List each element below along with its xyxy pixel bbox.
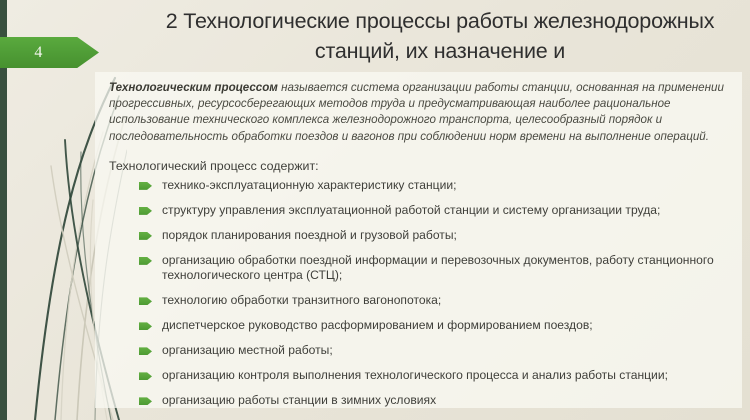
list-item: технологию обработки транзитного вагоноп… [139,293,728,309]
list-item: диспетчерское руководство расформировани… [139,318,728,334]
list-item-label: организацию контроля выполнения технолог… [162,368,668,382]
list-item-label: порядок планирования поездной и грузовой… [162,228,457,242]
definition-paragraph: Технологическим процессом называется сис… [109,80,728,145]
contents-list: технико-эксплуатационную характеристику … [105,178,732,409]
list-item-label: организацию работы станции в зимних усло… [162,393,436,407]
arrow-bullet-icon [139,297,152,305]
list-item-label: структуру управления эксплуатационной ра… [162,203,660,217]
list-subheading: Технологический процесс содержит: [109,158,728,175]
list-item: порядок планирования поездной и грузовой… [139,228,728,244]
arrow-bullet-icon [139,372,152,380]
arrow-bullet-icon [139,397,152,405]
list-item: технико-эксплуатационную характеристику … [139,178,728,194]
page-title: 2 Технологические процессы работы железн… [150,6,730,66]
list-item: организацию местной работы; [139,343,728,359]
list-item: организацию обработки поездной информаци… [139,253,728,284]
list-item-label: организацию обработки поездной информаци… [162,253,714,283]
arrow-bullet-icon [139,207,152,215]
list-item-label: диспетчерское руководство расформировани… [162,318,593,332]
definition-term: Технологическим процессом [109,81,281,94]
list-item: организацию работы станции в зимних усло… [139,393,728,409]
arrow-bullet-icon [139,182,152,190]
list-item-label: организацию местной работы; [162,343,333,357]
slide-canvas: 4 2 Технологические процессы работы желе… [0,0,750,420]
arrow-bullet-icon [139,347,152,355]
list-item: организацию контроля выполнения технолог… [139,368,728,384]
list-item: структуру управления эксплуатационной ра… [139,203,728,219]
slide-number-label: 4 [0,37,77,68]
arrow-bullet-icon [139,322,152,330]
arrow-bullet-icon [139,257,152,265]
list-item-label: технологию обработки транзитного вагоноп… [162,293,441,307]
arrow-bullet-icon [139,232,152,240]
list-item-label: технико-эксплуатационную характеристику … [162,178,456,192]
content-panel: Технологическим процессом называется сис… [95,72,742,408]
